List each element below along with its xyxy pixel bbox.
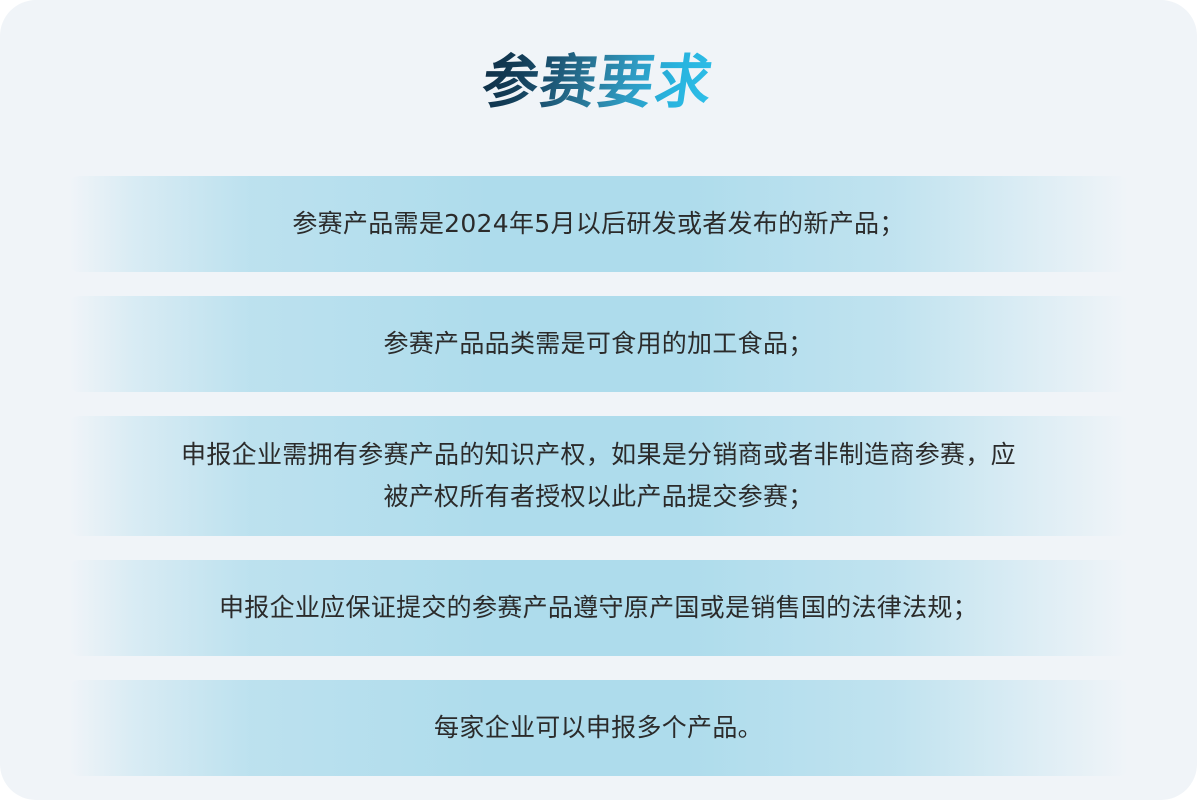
requirement-text-3: 申报企业需拥有参赛产品的知识产权，如果是分销商或者非制造商参赛，应 被产权所有者…	[155, 434, 1042, 518]
requirement-line: 申报企业需拥有参赛产品的知识产权，如果是分销商或者非制造商参赛，应	[181, 434, 1016, 476]
page-title-container: 参赛要求	[0, 46, 1197, 126]
page-title: 参赛要求	[478, 46, 719, 118]
requirement-row-2: 参赛产品品类需是可食用的加工食品；	[69, 296, 1129, 392]
requirement-line: 每家企业可以申报多个产品。	[434, 707, 763, 749]
requirement-row-3: 申报企业需拥有参赛产品的知识产权，如果是分销商或者非制造商参赛，应 被产权所有者…	[69, 416, 1129, 536]
requirement-row-1: 参赛产品需是2024年5月以后研发或者发布的新产品；	[69, 176, 1129, 272]
requirement-line: 申报企业应保证提交的参赛产品遵守原产国或是销售国的法律法规；	[219, 587, 978, 629]
requirements-list: 参赛产品需是2024年5月以后研发或者发布的新产品； 参赛产品品类需是可食用的加…	[0, 176, 1197, 776]
requirements-page: 参赛要求 参赛产品需是2024年5月以后研发或者发布的新产品； 参赛产品品类需是…	[0, 0, 1197, 800]
requirement-text-5: 每家企业可以申报多个产品。	[408, 707, 789, 749]
requirement-row-5: 每家企业可以申报多个产品。	[69, 680, 1129, 776]
requirement-line: 参赛产品需是2024年5月以后研发或者发布的新产品；	[292, 203, 904, 245]
requirement-text-2: 参赛产品品类需是可食用的加工食品；	[357, 323, 839, 365]
requirement-text-4: 申报企业应保证提交的参赛产品遵守原产国或是销售国的法律法规；	[193, 587, 1004, 629]
requirement-line: 参赛产品品类需是可食用的加工食品；	[383, 323, 813, 365]
requirement-line: 被产权所有者授权以此产品提交参赛；	[181, 476, 1016, 518]
requirement-row-4: 申报企业应保证提交的参赛产品遵守原产国或是销售国的法律法规；	[69, 560, 1129, 656]
requirement-text-1: 参赛产品需是2024年5月以后研发或者发布的新产品；	[266, 203, 930, 245]
